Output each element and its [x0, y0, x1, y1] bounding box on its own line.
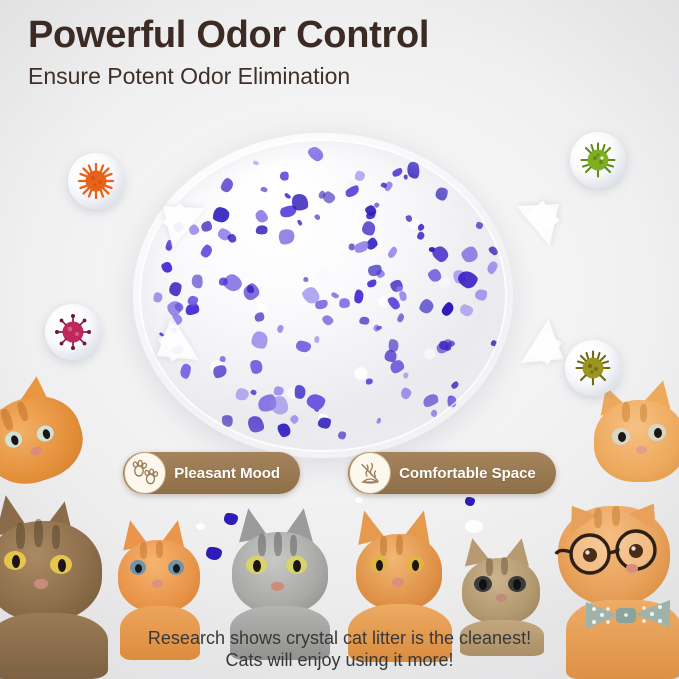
- blue-crystal: [276, 324, 284, 334]
- blue-crystal: [430, 410, 437, 418]
- blue-crystal: [338, 431, 347, 439]
- blue-crystal: [174, 301, 186, 313]
- blue-crystal: [366, 278, 378, 289]
- blue-crystal: [396, 313, 404, 323]
- blue-crystal: [418, 298, 435, 315]
- blue-crystal: [444, 344, 452, 352]
- blue-crystal: [451, 268, 468, 285]
- caption-line-2: Cats will enjoy using it more!: [0, 650, 679, 672]
- blue-crystal: [338, 297, 351, 309]
- stray-crystal: [206, 547, 222, 560]
- blue-crystal: [251, 331, 267, 349]
- pink-virus-icon: [53, 312, 93, 352]
- blue-crystal: [455, 268, 479, 291]
- blue-crystal: [421, 392, 440, 409]
- blue-crystal: [252, 311, 265, 323]
- blue-crystal: [359, 317, 370, 325]
- page-title: Powerful Odor Control: [28, 16, 648, 56]
- blue-crystal: [439, 340, 449, 349]
- crystal-litter-dish: [133, 133, 513, 458]
- blue-crystal: [165, 298, 185, 318]
- blue-crystal: [475, 290, 487, 301]
- blue-crystal: [248, 358, 264, 375]
- blue-crystal: [218, 277, 229, 287]
- blue-crystal: [429, 246, 436, 252]
- blue-crystal: [221, 272, 244, 294]
- crystal-speck: [355, 497, 363, 503]
- blue-crystal: [403, 372, 409, 378]
- blue-crystal: [289, 414, 300, 425]
- blue-crystal: [376, 325, 383, 331]
- blue-crystal: [314, 406, 320, 412]
- blue-crystal: [374, 202, 381, 209]
- product-marketing-image: Powerful Odor Control Ensure Potent Odor…: [0, 0, 679, 679]
- blue-crystal: [247, 284, 256, 294]
- badge-pleasant-mood[interactable]: Pleasant Mood: [123, 452, 300, 494]
- blue-crystal: [255, 224, 268, 235]
- blue-crystal: [417, 223, 426, 232]
- blue-crystal: [366, 263, 383, 278]
- blue-crystal: [399, 387, 412, 401]
- blue-crystal: [226, 232, 237, 244]
- blue-crystal: [429, 244, 450, 265]
- blue-crystal: [190, 273, 204, 289]
- blue-crystal: [280, 171, 290, 182]
- crystal-speck: [196, 523, 205, 530]
- blue-crystal: [168, 282, 182, 297]
- blue-crystal: [267, 393, 291, 418]
- blue-crystal: [364, 236, 379, 252]
- blue-crystal: [330, 291, 340, 299]
- blue-crystal: [276, 420, 294, 438]
- green-bacteria-icon: [578, 140, 618, 180]
- caption-line-1: Research shows crystal cat litter is the…: [0, 628, 679, 650]
- no-odor-litter-icon: [349, 452, 391, 494]
- blue-crystal: [435, 187, 448, 201]
- blue-crystal: [383, 180, 394, 192]
- page-subtitle: Ensure Potent Odor Elimination: [28, 64, 648, 89]
- arrow-top-right: [516, 184, 575, 246]
- blue-crystal: [388, 278, 405, 295]
- blue-crystal: [252, 208, 269, 225]
- blue-crystal: [317, 190, 326, 200]
- blue-crystal: [384, 350, 396, 362]
- blue-crystal: [459, 243, 481, 265]
- blue-crystal: [403, 174, 408, 180]
- blue-crystal: [254, 392, 279, 416]
- blue-crystal: [459, 303, 475, 317]
- feature-badge-row: Pleasant Mood Comfortable Space: [0, 452, 679, 494]
- blue-crystal: [475, 221, 483, 229]
- blue-crystal: [376, 418, 381, 424]
- blue-crystal: [398, 291, 407, 302]
- blue-crystal: [363, 203, 378, 218]
- blue-crystal: [153, 292, 162, 302]
- blue-crystal: [391, 166, 404, 178]
- blue-crystal: [273, 386, 283, 396]
- blue-crystal: [490, 339, 497, 346]
- blue-crystal: [354, 289, 364, 303]
- blue-crystal: [406, 161, 421, 179]
- blue-crystal: [388, 358, 406, 376]
- blue-crystal: [260, 187, 267, 193]
- blue-crystal: [297, 220, 303, 227]
- blue-crystal: [313, 213, 321, 221]
- olive-germ-icon: [573, 348, 613, 388]
- blue-crystal: [405, 214, 414, 223]
- blue-crystal: [213, 207, 231, 223]
- blue-crystal: [284, 193, 292, 201]
- blue-crystal: [306, 145, 326, 164]
- blue-crystal: [220, 356, 226, 362]
- blue-crystal: [381, 182, 388, 188]
- blue-crystal: [416, 231, 425, 241]
- blue-crystal: [426, 267, 444, 285]
- blue-crystal: [252, 161, 259, 166]
- blue-crystal: [245, 413, 267, 435]
- germ-pink-bubble: [45, 304, 101, 360]
- blue-crystal: [187, 295, 199, 307]
- blue-crystal: [386, 295, 402, 311]
- blue-crystal: [321, 190, 336, 205]
- blue-crystal: [303, 276, 309, 282]
- blue-crystal: [314, 336, 320, 343]
- blue-crystal: [289, 192, 310, 214]
- badge-label: Comfortable Space: [399, 465, 536, 482]
- blue-crystal: [221, 414, 234, 428]
- blue-crystal: [305, 392, 326, 411]
- blue-crystal: [199, 242, 213, 258]
- stray-crystal: [465, 497, 475, 506]
- blue-crystal: [387, 246, 399, 260]
- blue-crystal: [361, 221, 375, 236]
- blue-crystal: [220, 177, 235, 194]
- blue-crystal: [183, 302, 200, 318]
- white-crystal-texture: [133, 133, 513, 458]
- blue-crystal: [321, 314, 335, 328]
- paw-print-icon: [124, 452, 166, 494]
- orange-virus-icon: [76, 161, 116, 201]
- blue-crystal: [277, 227, 296, 246]
- blue-crystal: [343, 184, 360, 200]
- germ-orange-bubble: [68, 153, 124, 209]
- blue-crystal: [353, 239, 371, 255]
- blue-crystal: [314, 299, 329, 311]
- bottom-caption: Research shows crystal cat litter is the…: [0, 628, 679, 672]
- blue-crystal: [236, 388, 249, 400]
- blue-crystal: [240, 282, 261, 303]
- dish-highlight: [201, 146, 351, 226]
- blue-crystal: [294, 384, 307, 400]
- blue-crystal: [348, 243, 355, 251]
- badge-comfortable-space[interactable]: Comfortable Space: [348, 452, 556, 494]
- header-block: Powerful Odor Control Ensure Potent Odor…: [28, 16, 648, 89]
- blue-crystal: [160, 260, 174, 274]
- blue-crystal: [211, 363, 229, 380]
- blue-crystal: [199, 219, 213, 232]
- blue-crystal: [300, 284, 323, 307]
- blue-crystal: [365, 210, 377, 221]
- blue-crystal: [318, 418, 331, 429]
- germ-green-bubble: [570, 132, 626, 188]
- round-glasses-icon: [554, 528, 679, 598]
- blue-crystal: [250, 389, 256, 395]
- blue-crystal: [448, 340, 456, 348]
- blue-crystal: [451, 380, 461, 390]
- badge-label: Pleasant Mood: [174, 465, 280, 482]
- blue-crystal: [395, 285, 403, 292]
- blue-crystal: [486, 260, 499, 275]
- blue-crystal: [488, 245, 500, 256]
- crystal-speck: [465, 520, 483, 533]
- blue-crystal: [373, 325, 380, 332]
- germ-olive-bubble: [565, 340, 621, 396]
- blue-crystal: [440, 301, 456, 318]
- blue-crystal: [435, 336, 455, 355]
- blue-crystal: [355, 170, 365, 180]
- blue-crystal: [295, 340, 311, 353]
- blue-crystal: [375, 268, 386, 279]
- blue-crystal: [388, 337, 400, 352]
- blue-crystal: [279, 204, 298, 220]
- blue-crystal: [217, 227, 232, 241]
- blue-crystal: [365, 377, 373, 385]
